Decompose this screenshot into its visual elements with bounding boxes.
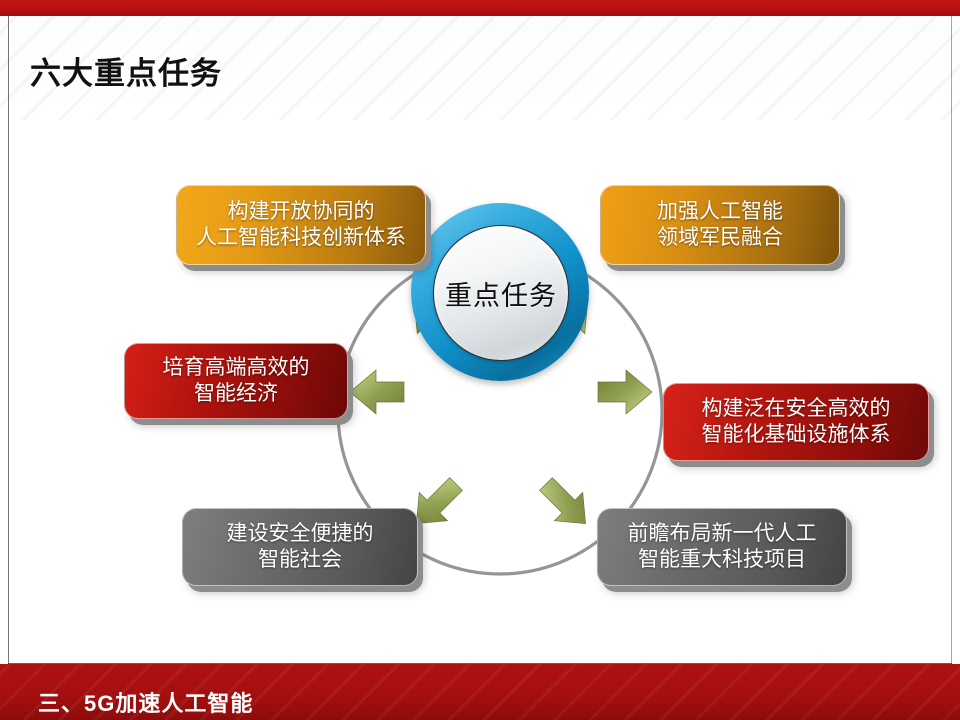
left-page-rule	[8, 16, 9, 664]
node-line-1: 加强人工智能	[657, 199, 783, 225]
arrow-down-right	[532, 470, 600, 538]
node-line-1: 建设安全便捷的	[227, 521, 374, 547]
node-box-left[interactable]: 培育高端高效的 智能经济	[124, 343, 348, 419]
node-line-2: 智能重大科技项目	[638, 547, 806, 573]
node-line-2: 智能经济	[194, 381, 278, 407]
node-box-right[interactable]: 构建泛在安全高效的 智能化基础设施体系	[663, 383, 929, 461]
node-line-2: 领域军民融合	[657, 225, 783, 251]
hub-circle: 重点任务	[411, 203, 589, 381]
arrow-right	[598, 370, 652, 414]
top-red-band	[0, 0, 960, 16]
node-box-top-left[interactable]: 构建开放协同的 人工智能科技创新体系	[176, 185, 426, 265]
slide-canvas: 六大重点任务	[0, 0, 960, 720]
node-box-bottom-left[interactable]: 建设安全便捷的 智能社会	[182, 508, 418, 586]
node-line-2: 智能化基础设施体系	[702, 422, 891, 448]
footer-section-title: 三、5G加速人工智能	[38, 686, 253, 718]
node-line-2: 人工智能科技创新体系	[196, 225, 406, 251]
node-box-bottom-right[interactable]: 前瞻布局新一代人工 智能重大科技项目	[597, 508, 847, 586]
hub-inner-disc: 重点任务	[433, 225, 569, 361]
node-line-1: 培育高端高效的	[163, 355, 310, 381]
node-line-2: 智能社会	[258, 547, 342, 573]
node-line-1: 前瞻布局新一代人工	[628, 521, 817, 547]
arrow-left	[350, 370, 404, 414]
hub-label: 重点任务	[445, 274, 557, 313]
page-title: 六大重点任务	[30, 48, 222, 93]
node-box-top-right[interactable]: 加强人工智能 领域军民融合	[600, 185, 840, 265]
node-line-1: 构建泛在安全高效的	[702, 396, 891, 422]
right-page-rule	[951, 16, 952, 664]
node-line-1: 构建开放协同的	[228, 199, 375, 225]
